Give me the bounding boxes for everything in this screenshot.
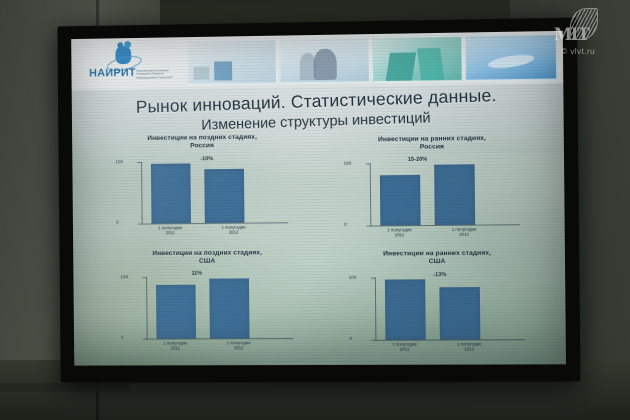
logo-atom-icon — [110, 45, 136, 69]
y-tick-label-max: 100 — [120, 274, 128, 279]
chart-title-line2: США — [327, 257, 549, 267]
y-tick-bottom — [143, 339, 148, 340]
chart-early-stage-usa: Инвестиции на ранних стадиях, США 100 0 — [326, 249, 549, 363]
chart-title-line2: США — [99, 257, 317, 267]
bars: 11% — [148, 276, 293, 338]
wall-baseboard — [0, 383, 130, 392]
nairit-logo: НАИРИТ Национальная Ассоциация Инноваций… — [85, 44, 180, 85]
y-tick-top — [371, 278, 376, 279]
charts-grid: Инвестиции на поздних стадиях, Россия 10… — [72, 128, 566, 364]
bar-2012 — [209, 279, 249, 338]
bar-2012 — [439, 287, 480, 339]
y-tick-bottom — [371, 340, 376, 341]
x-label-2012: 1 полугодие 2012 — [207, 224, 261, 235]
photo-people-with-laptop — [279, 38, 369, 83]
projection-screen: НАИРИТ Национальная Ассоциация Инноваций… — [71, 31, 566, 366]
y-tick-label-min: 0 — [349, 336, 352, 341]
watermark-logo-icon: MIT — [536, 6, 620, 46]
y-tick-label-min: 0 — [116, 220, 119, 225]
change-annotation: -13% — [433, 272, 446, 278]
x-label-2012: 1 полугодие 2012 — [437, 227, 492, 238]
chart-title-line2: Россия — [321, 142, 543, 153]
bar-2011 — [151, 164, 191, 224]
bars: -10% — [143, 160, 288, 223]
change-annotation: 11% — [191, 271, 202, 277]
presentation-slide: НАИРИТ Национальная Ассоциация Инноваций… — [71, 31, 566, 366]
chart-late-stage-russia: Инвестиции на поздних стадиях, Россия 10… — [94, 133, 313, 247]
video-watermark: MIT © vlvt.ru — [536, 6, 620, 68]
screen-frame: НАИРИТ Национальная Ассоциация Инноваций… — [57, 17, 580, 382]
y-tick-bottom — [138, 224, 143, 225]
y-tick-label-max: 100 — [349, 275, 357, 280]
plot-area: 100 0 -10% 1 полугодие 2011 — [113, 154, 292, 229]
chart-title: Инвестиции на поздних стадиях, США — [99, 249, 317, 267]
bars: -13% — [377, 277, 525, 340]
photo-of-projection-screen: НАИРИТ Национальная Ассоциация Инноваций… — [0, 0, 630, 420]
y-tick-label-max: 100 — [344, 161, 352, 166]
slide-header-band: НАИРИТ Национальная Ассоциация Инноваций… — [71, 31, 563, 91]
y-tick-bottom — [366, 226, 371, 227]
plot-area: 100 0 11% 1 полугодие 2011 — [118, 270, 297, 345]
chart-early-stage-russia: Инвестиции на ранних стадиях, Россия 100… — [321, 134, 544, 249]
watermark-brand: MIT — [554, 24, 589, 46]
x-label-2011: 1 полугодие 2011 — [144, 225, 197, 236]
y-tick-label-max: 100 — [115, 159, 123, 164]
x-axis-labels: 1 полугодие 2011 1 полугодие 2012 — [377, 341, 529, 352]
chart-title: Инвестиции на ранних стадиях, Россия — [321, 134, 543, 153]
logo-wordmark: НАИРИТ — [89, 67, 136, 80]
chart-title: Инвестиции на ранних стадиях, США — [326, 249, 548, 267]
chart-title: Инвестиции на поздних стадиях, Россия — [94, 133, 312, 152]
bar-2012 — [204, 169, 244, 223]
change-annotation: 15-20% — [408, 157, 427, 163]
plot-area: 100 0 -13% 1 полугодие 2011 — [347, 271, 529, 346]
logo-subtitle: Национальная Ассоциация Инноваций и Разв… — [136, 69, 179, 80]
x-label-2012: 1 полугодие 2012 — [212, 340, 266, 351]
watermark-url: © vlvt.ru — [536, 46, 620, 56]
x-axis-labels: 1 полугодие 2011 1 полугодие 2012 — [144, 224, 293, 236]
y-tick-top — [142, 277, 147, 278]
bar-2011 — [156, 285, 196, 338]
photo-strip — [187, 35, 557, 85]
y-tick-top — [137, 162, 142, 163]
bar-2011 — [380, 174, 421, 225]
plot-area: 100 0 15-20% 1 полугодие 2011 — [342, 156, 524, 232]
photo-glass-buildings — [372, 37, 463, 83]
x-label-2011: 1 полугодие 2011 — [377, 342, 431, 353]
x-axis-labels: 1 полугодие 2011 1 полугодие 2012 — [149, 340, 298, 351]
x-label-2011: 1 полугодие 2011 — [149, 340, 202, 351]
y-tick-label-min: 0 — [344, 222, 347, 227]
x-label-2011: 1 полугодие 2011 — [372, 227, 426, 238]
x-label-2012: 1 полугодие 2012 — [442, 341, 497, 352]
photo-laboratory — [187, 40, 276, 85]
chart-title-line2: Россия — [94, 141, 312, 152]
bar-2011 — [385, 280, 426, 340]
y-tick-top — [366, 163, 371, 164]
bar-2012 — [434, 165, 475, 225]
y-tick-label-min: 0 — [121, 335, 124, 340]
chart-late-stage-usa: Инвестиции на поздних стадиях, США 100 0 — [99, 249, 318, 362]
bars: 15-20% — [372, 162, 520, 226]
x-axis-labels: 1 полугодие 2011 1 полугодие 2012 — [372, 226, 524, 238]
change-annotation: -10% — [200, 156, 213, 162]
